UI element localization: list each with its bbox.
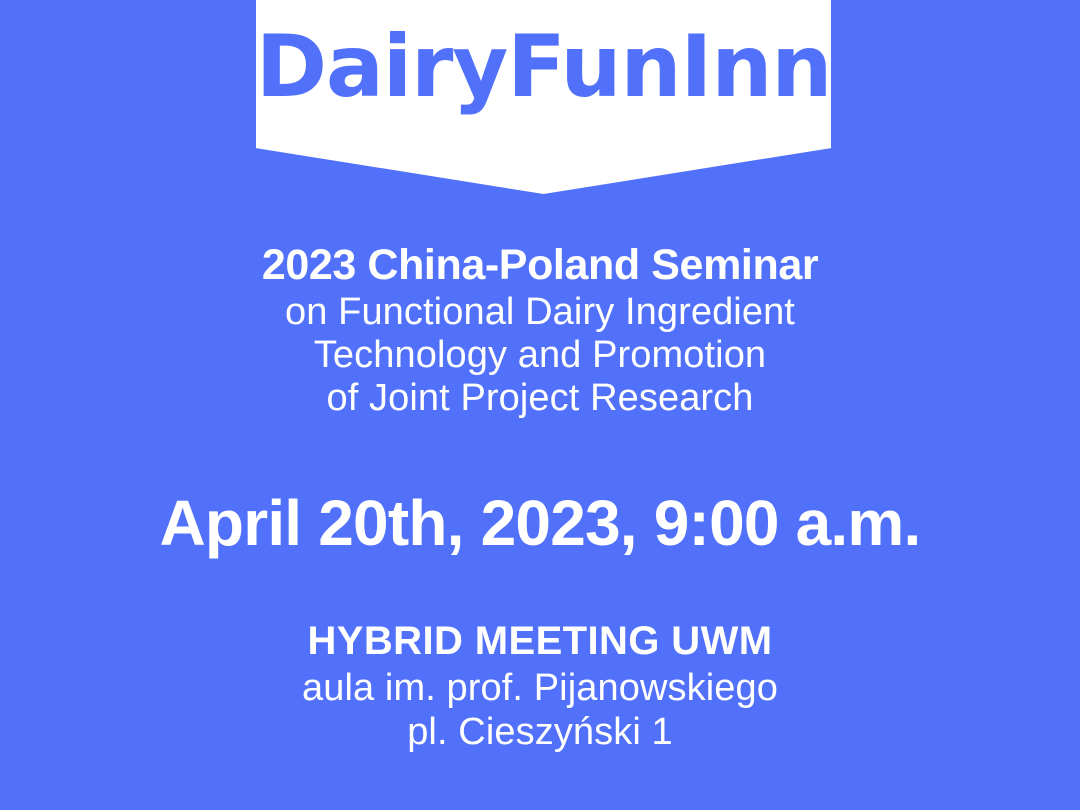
venue-address-line-2: pl. Cieszyński 1 bbox=[0, 710, 1080, 754]
logo-banner: DairyFunInn bbox=[256, 0, 831, 194]
title-block: 2023 China-Poland Seminar on Functional … bbox=[0, 239, 1080, 420]
event-datetime: April 20th, 2023, 9:00 a.m. bbox=[0, 487, 1080, 559]
seminar-title: 2023 China-Poland Seminar bbox=[0, 239, 1080, 291]
seminar-subtitle-line-3: of Joint Project Research bbox=[0, 377, 1080, 420]
seminar-subtitle-line-2: Technology and Promotion bbox=[0, 334, 1080, 377]
venue-heading: HYBRID MEETING UWM bbox=[0, 616, 1080, 666]
seminar-poster: DairyFunInn 2023 China-Poland Seminar on… bbox=[0, 0, 1080, 810]
seminar-subtitle-line-1: on Functional Dairy Ingredient bbox=[0, 291, 1080, 334]
venue-address-line-1: aula im. prof. Pijanowskiego bbox=[0, 666, 1080, 710]
venue-block: HYBRID MEETING UWM aula im. prof. Pijano… bbox=[0, 616, 1080, 754]
brand-logo-text: DairyFunInn bbox=[256, 24, 832, 110]
